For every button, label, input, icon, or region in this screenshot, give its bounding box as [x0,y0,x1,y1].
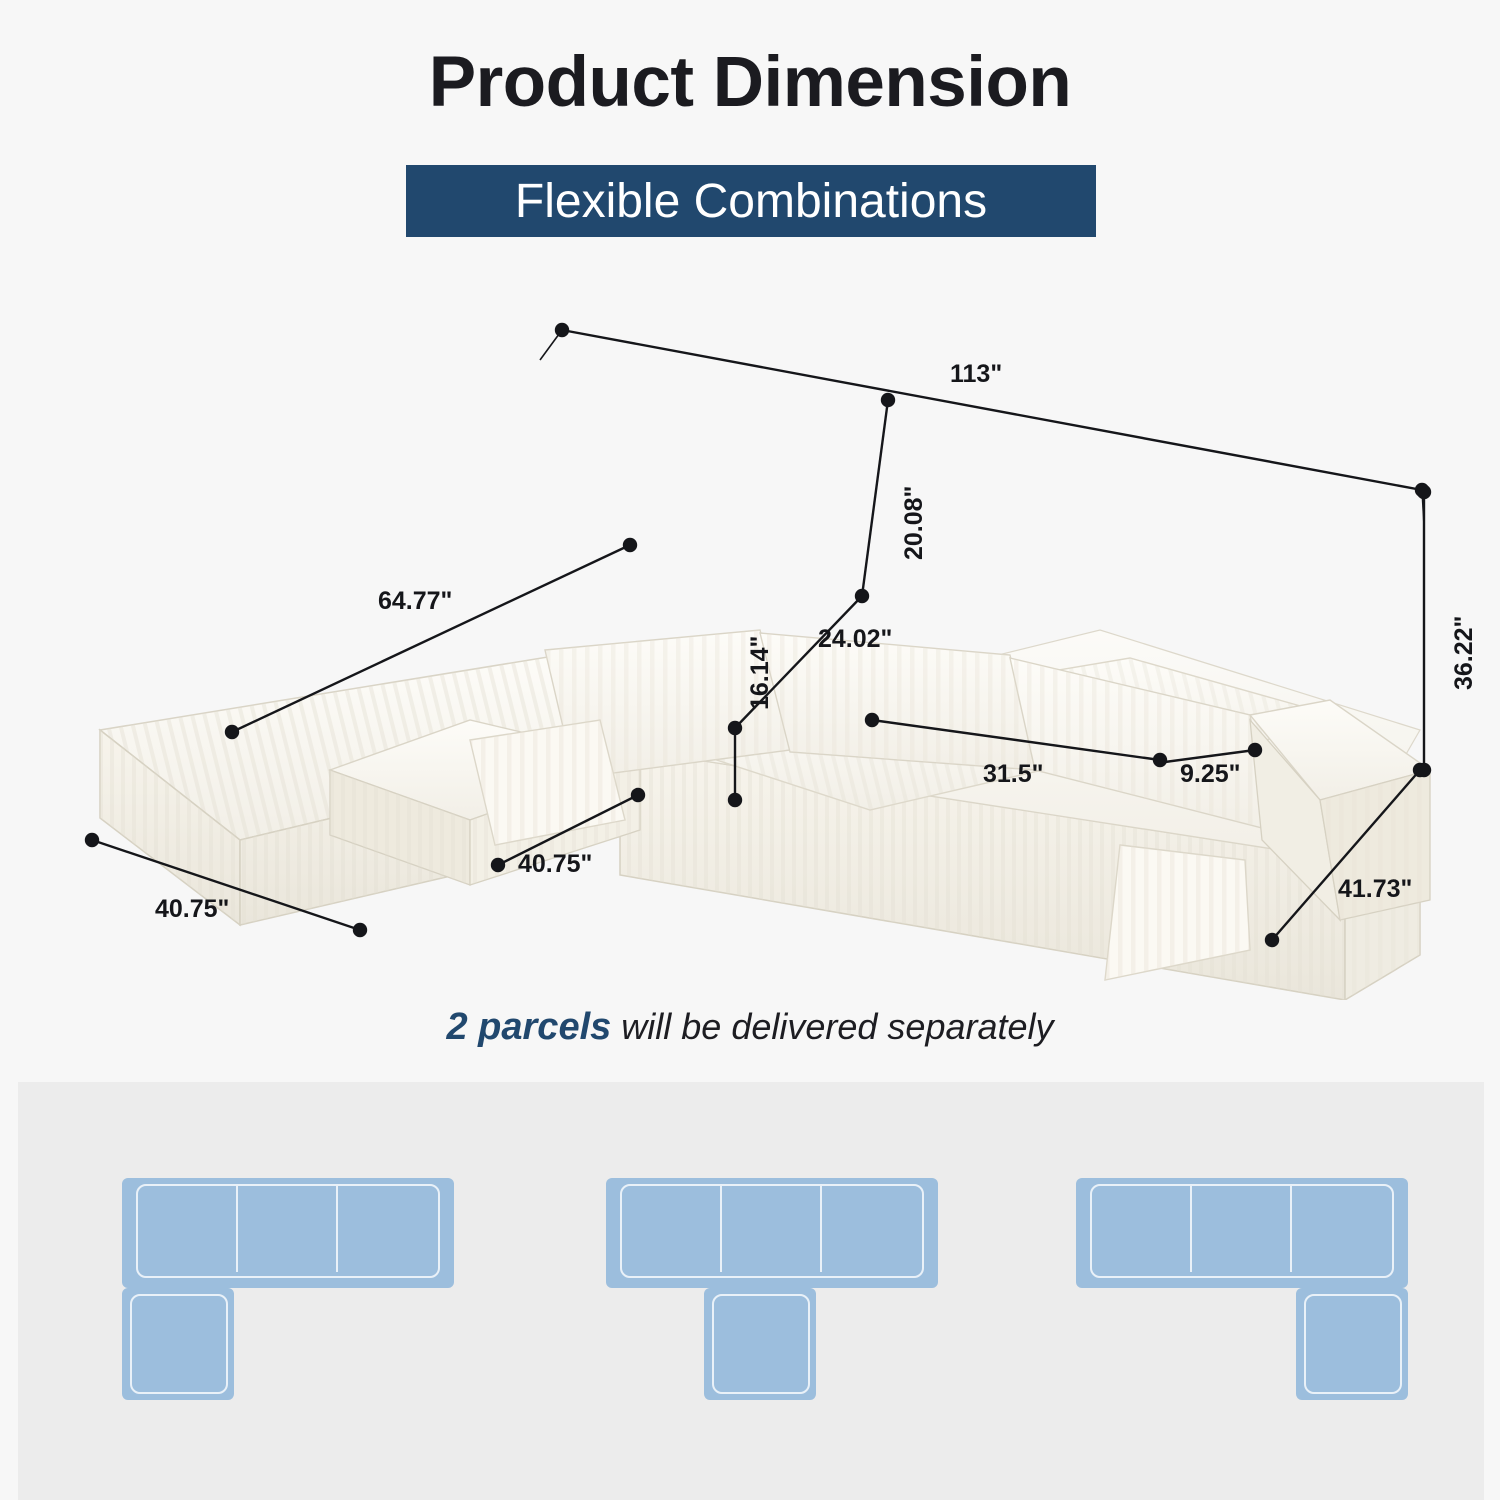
sofa-body-outline [1090,1184,1394,1278]
seat-divider [820,1186,822,1272]
dim-label-overall-depth: 41.73" [1338,875,1412,904]
dim-label-overall-height: 36.22" [1450,616,1479,690]
dim-label-overall-width: 113" [950,360,1002,389]
sofa-body-outline [136,1184,440,1278]
chaise-module-outline [130,1294,228,1394]
sofa-body-outline [620,1184,924,1278]
combinations-panel [18,1082,1484,1500]
combo-center-ottoman [588,1082,938,1500]
product-dimension-page: Product Dimension Flexible Combinations [0,0,1500,1500]
parcel-count: 2 parcels [446,1006,611,1048]
seat-divider [1290,1186,1292,1272]
dim-label-chaise-depth: 40.75" [518,850,592,879]
chaise-module-outline [1304,1294,1402,1394]
dim-label-armrest-width: 9.25" [1180,760,1241,789]
parcel-note-rest: will be delivered separately [611,1006,1053,1047]
seat-divider [1190,1186,1192,1272]
shipping-note: 2 parcels will be delivered separately [0,1006,1500,1049]
dim-label-chaise-width: 40.75" [155,895,229,924]
subtitle-banner: Flexible Combinations [406,165,1096,237]
dim-label-seat-height: 16.14" [746,636,775,710]
page-title: Product Dimension [0,42,1500,123]
subtitle-text: Flexible Combinations [515,174,987,229]
dim-label-seat-depth-back: 24.02" [818,625,892,654]
seat-divider [720,1186,722,1272]
dim-label-backrest-height: 20.08" [900,486,929,560]
ottoman-module-outline [712,1294,810,1394]
seat-divider [336,1186,338,1272]
sofa-dimension-diagram: 113" 20.08" 64.77" 24.02" 36.22" 16.14" … [0,300,1500,1000]
combo-left-chaise [104,1082,454,1500]
seat-divider [236,1186,238,1272]
combo-right-chaise [1058,1082,1408,1500]
dim-label-seat-width: 31.5" [983,760,1044,789]
dim-label-chaise-length: 64.77" [378,587,452,616]
